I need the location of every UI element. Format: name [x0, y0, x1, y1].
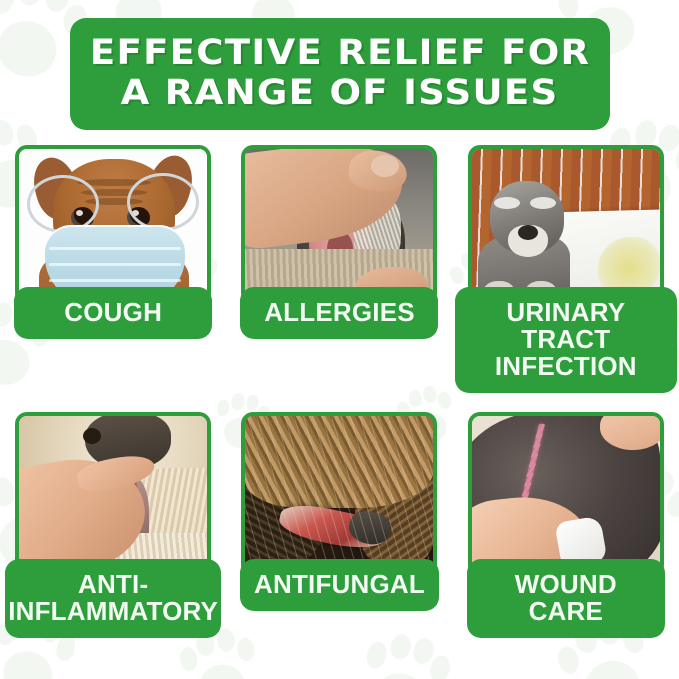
benefit-label-allergies: ALLERGIES — [264, 299, 415, 326]
label-plate-anti-inflammatory: ANTI- INFLAMMATORY — [5, 559, 221, 638]
photo-frame-anti-inflammatory — [15, 412, 211, 577]
irritated-dog-skin-photo — [19, 416, 207, 573]
benefit-card-wound-care: WOUND CARE — [453, 412, 679, 679]
header-banner: EFFECTIVE RELIEF FOR A RANGE OF ISSUES — [70, 18, 610, 130]
label-plate-allergies: ALLERGIES — [240, 287, 438, 339]
photo-frame-antifungal — [241, 412, 437, 577]
benefit-card-urinary-tract-infection: URINARY TRACT INFECTION — [453, 145, 679, 412]
photo-frame-allergies — [241, 145, 437, 305]
label-plate-wound-care: WOUND CARE — [467, 559, 665, 638]
benefit-card-cough: COUGH — [0, 145, 226, 412]
label-plate-cough: COUGH — [14, 287, 212, 339]
label-plate-urinary-tract-infection: URINARY TRACT INFECTION — [455, 287, 677, 393]
photo-frame-cough — [15, 145, 211, 305]
label-plate-antifungal: ANTIFUNGAL — [240, 559, 439, 611]
benefit-card-grid: COUGH ALLERGIES — [0, 145, 679, 679]
benefit-label-cough: COUGH — [64, 299, 162, 326]
inflamed-dog-ear-photo — [245, 149, 433, 301]
sutured-wound-photo — [472, 416, 660, 573]
headline-line-2: A RANGE OF ISSUES — [121, 75, 559, 113]
bulldog-wearing-surgical-mask-photo — [19, 149, 207, 301]
photo-frame-urinary-tract-infection — [468, 145, 664, 305]
photo-frame-wound-care — [468, 412, 664, 577]
headline-line-1: EFFECTIVE RELIEF FOR — [90, 35, 591, 73]
dog-on-pee-pad-photo — [472, 149, 660, 301]
fungal-skin-lesion-photo — [245, 416, 433, 573]
benefit-label-antifungal: ANTIFUNGAL — [254, 571, 425, 598]
benefit-label-anti-inflammatory: ANTI- INFLAMMATORY — [8, 571, 218, 625]
benefit-label-wound-care: WOUND CARE — [515, 571, 617, 625]
benefit-card-allergies: ALLERGIES — [226, 145, 452, 412]
benefit-card-anti-inflammatory: ANTI- INFLAMMATORY — [0, 412, 226, 679]
infographic-page: EFFECTIVE RELIEF FOR A RANGE OF ISSUES — [0, 0, 679, 679]
benefit-card-antifungal: ANTIFUNGAL — [226, 412, 452, 679]
benefit-label-urinary-tract-infection: URINARY TRACT INFECTION — [469, 299, 663, 380]
